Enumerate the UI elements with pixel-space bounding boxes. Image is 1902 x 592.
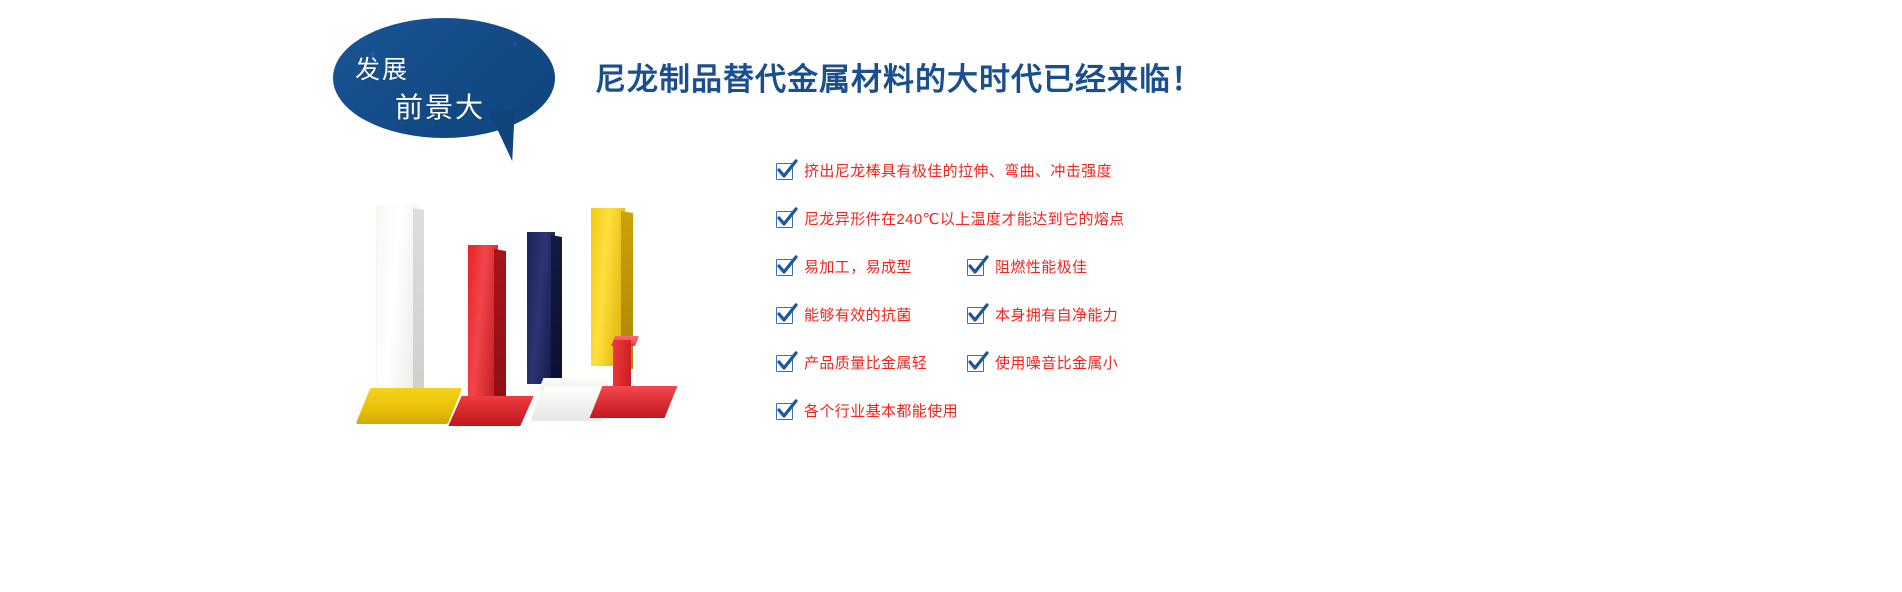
bubble-text-line-1: 发展 [355, 50, 409, 86]
red-angle-profile-base [590, 386, 678, 418]
feature-item: 阻燃性能极佳 [967, 259, 1087, 276]
checkmark-icon [776, 307, 793, 324]
feature-label: 本身拥有自净能力 [995, 308, 1118, 323]
feature-item: 易加工，易成型 [776, 259, 912, 276]
checkmark-icon [776, 355, 793, 372]
feature-item: 各个行业基本都能使用 [776, 403, 958, 420]
feature-label: 尼龙异形件在240℃以上温度才能达到它的熔点 [804, 212, 1125, 227]
feature-item: 尼龙异形件在240℃以上温度才能达到它的熔点 [776, 211, 1125, 228]
white-tall-profile [377, 205, 417, 405]
banner-root: 发展 前景大 尼龙制品替代金属材料的大时代已经来临！ 挤出尼龙棒具有极佳的拉伸、… [0, 0, 1902, 592]
page-headline: 尼龙制品替代金属材料的大时代已经来临！ [595, 54, 1203, 99]
feature-item: 挤出尼龙棒具有极佳的拉伸、弯曲、冲击强度 [776, 163, 1112, 180]
checkmark-icon [967, 307, 984, 324]
feature-item: 产品质量比金属轻 [776, 355, 927, 372]
checkmark-icon [776, 211, 793, 228]
feature-label: 阻燃性能极佳 [995, 260, 1087, 275]
red-base [448, 396, 533, 426]
yellow-u-base [356, 388, 463, 424]
white-tall-profile-side [413, 208, 424, 406]
navy-tall-profile-side [551, 235, 562, 387]
product-photo [355, 190, 700, 465]
checkmark-icon [967, 259, 984, 276]
feature-item: 使用噪音比金属小 [967, 355, 1118, 372]
feature-label: 易加工，易成型 [804, 260, 912, 275]
feature-label: 能够有效的抗菌 [804, 308, 912, 323]
checkmark-icon [776, 259, 793, 276]
bubble-text-line-2: 前景大 [395, 86, 485, 126]
checkmark-icon [967, 355, 984, 372]
red-tall-profile-side [494, 249, 506, 416]
speech-bubble: 发展 前景大 [333, 18, 623, 168]
feature-label: 挤出尼龙棒具有极佳的拉伸、弯曲、冲击强度 [804, 164, 1112, 179]
feature-label: 产品质量比金属轻 [804, 356, 927, 371]
feature-label: 使用噪音比金属小 [995, 356, 1118, 371]
checkmark-icon [776, 163, 793, 180]
checkmark-icon [776, 403, 793, 420]
feature-label: 各个行业基本都能使用 [804, 404, 958, 419]
feature-item: 能够有效的抗菌 [776, 307, 912, 324]
feature-item: 本身拥有自净能力 [967, 307, 1118, 324]
